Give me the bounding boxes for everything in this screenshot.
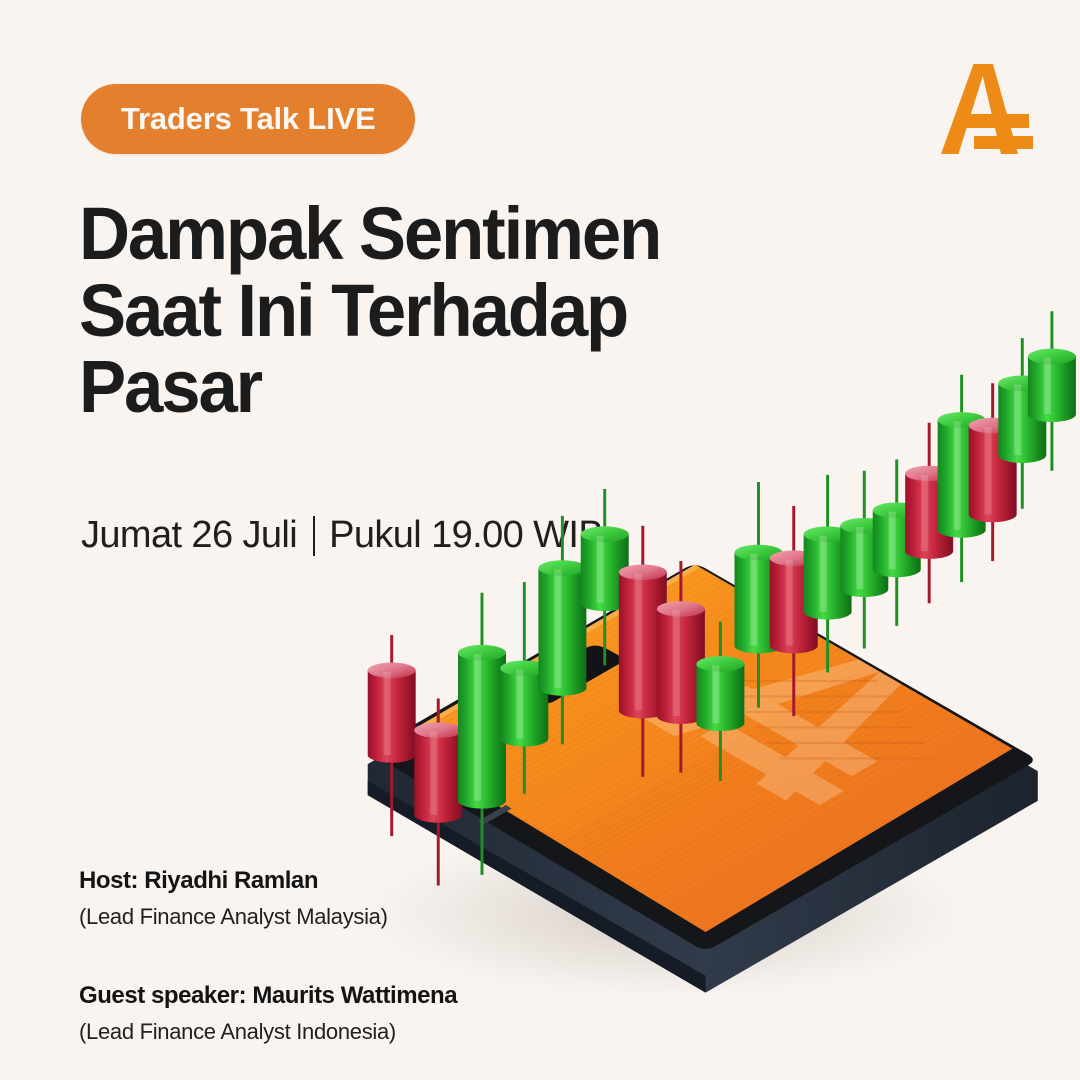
candle-highlight — [673, 610, 680, 716]
host-name: Host: Riyadhi Ramlan — [79, 866, 549, 896]
candle-highlight — [516, 670, 523, 739]
traders-talk-live-badge[interactable]: Traders Talk LIVE — [81, 84, 415, 154]
guest-role: (Lead Finance Analyst Indonesia) — [79, 1018, 549, 1046]
candle-highlight — [921, 475, 928, 551]
candle-highlight — [430, 732, 437, 815]
candle-body — [368, 670, 416, 762]
candle-cap — [458, 645, 506, 661]
candle-body — [414, 730, 462, 822]
candle-body — [458, 653, 506, 809]
candle-highlight — [889, 512, 896, 570]
candle-cap — [414, 723, 462, 739]
candle-body — [1028, 356, 1076, 422]
host-role: (Lead Finance Analyst Malaysia) — [79, 903, 549, 931]
poster-canvas: Traders Talk LIVE Dampak Sentimen Saat I… — [0, 0, 1080, 1080]
candle-cap — [696, 656, 744, 672]
candle-highlight — [1044, 358, 1051, 414]
candle-highlight — [712, 665, 719, 723]
candle-highlight — [856, 527, 863, 589]
headline-line-1: Dampak Sentimen — [79, 196, 805, 273]
candle-highlight — [1014, 385, 1021, 456]
candle-cap — [538, 560, 586, 576]
candle-highlight — [786, 560, 793, 646]
speaker-credits: Host: Riyadhi Ramlan (Lead Finance Analy… — [79, 866, 549, 1045]
candle-body — [696, 664, 744, 731]
candle-highlight — [474, 654, 481, 801]
candle-cap — [619, 565, 667, 581]
candle-highlight — [635, 574, 642, 711]
candle-highlight — [384, 672, 391, 755]
candle-cap — [657, 601, 705, 617]
candle-highlight — [985, 427, 992, 514]
candle-highlight — [819, 536, 826, 612]
candle-cap — [1028, 349, 1076, 365]
monogram-a-icon — [928, 58, 1040, 162]
candle-highlight — [750, 554, 757, 646]
candle-cap — [581, 526, 629, 542]
host-credit: Host: Riyadhi Ramlan (Lead Finance Analy… — [79, 866, 549, 931]
candle-body — [538, 568, 586, 696]
badge-label: Traders Talk LIVE — [121, 101, 375, 137]
event-date: Jumat 26 Juli — [81, 514, 297, 557]
guest-credit: Guest speaker: Maurits Wattimena (Lead F… — [79, 981, 549, 1046]
candle-cap — [368, 663, 416, 679]
candle-highlight — [953, 421, 960, 530]
candle-highlight — [597, 536, 604, 604]
candle-highlight — [554, 569, 561, 688]
guest-name: Guest speaker: Maurits Wattimena — [79, 981, 549, 1011]
